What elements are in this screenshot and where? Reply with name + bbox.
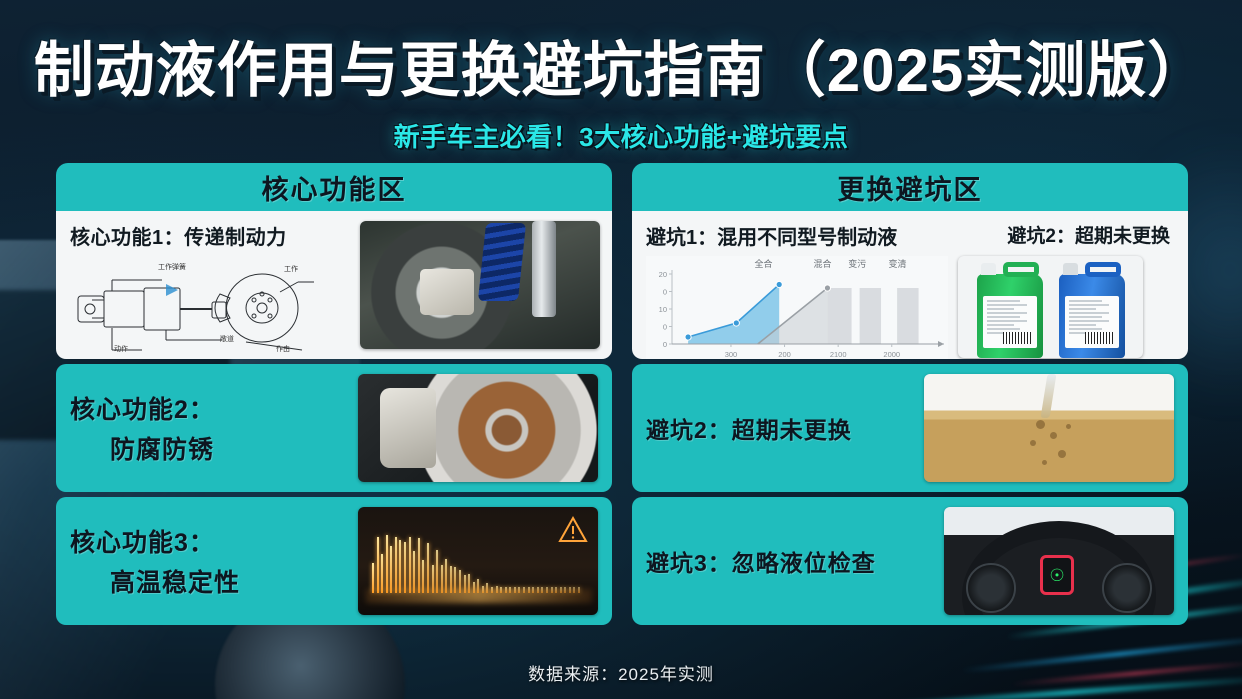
panel-header-left-label: 核心功能区	[262, 168, 407, 207]
barcode-icon	[1003, 332, 1031, 344]
bubble	[1058, 450, 1066, 458]
diagram-label: 工作弹簧	[158, 262, 186, 272]
mixing-fluid-chart: 200100030020021002000 全合混合变污变清	[646, 256, 948, 359]
card-pitfall-3-title: 避坑3：忽略液位检查	[646, 544, 944, 578]
card-pitfall-3[interactable]: 避坑3：忽略液位检查 ☉	[632, 497, 1188, 625]
diagram-label: 敞道	[220, 334, 234, 344]
panel-core-functions: 核心功能区 核心功能1：传递制动力	[56, 163, 612, 633]
card-pitfall-1-title2: 避坑2：超期未更换	[1007, 221, 1170, 248]
card-core-function-1[interactable]: 核心功能1：传递制动力	[56, 211, 612, 359]
svg-text:300: 300	[725, 350, 738, 359]
chart-annotations: 全合混合变污变清	[646, 256, 948, 272]
card-core-function-2-line2: 防腐防锈	[70, 430, 358, 466]
panel-header-right-label: 更换避坑区	[838, 168, 983, 207]
steering-wheel-warning-photo: ☉	[944, 507, 1174, 615]
can-label	[983, 296, 1037, 348]
spark-bars	[372, 529, 584, 593]
card-pitfall-1[interactable]: 避坑1：混用不同型号制动液 避坑2：超期未更换 2001000300200210…	[632, 211, 1188, 359]
chart-annotation: 混合	[813, 257, 831, 270]
can-cap-icon	[981, 263, 996, 275]
card-core-function-3-line1: 核心功能3：	[70, 523, 358, 559]
svg-text:200: 200	[778, 350, 791, 359]
card-core-function-3-line2: 高温稳定性	[70, 563, 358, 599]
svg-text:2000: 2000	[883, 350, 900, 359]
panel-replacement-pitfalls: 更换避坑区 避坑1：混用不同型号制动液 避坑2：超期未更换 2001000300…	[632, 163, 1188, 633]
coil-spring-graphic	[478, 223, 526, 301]
card-core-function-3[interactable]: 核心功能3： 高温稳定性	[56, 497, 612, 625]
svg-text:10: 10	[659, 305, 667, 314]
brake-system-diagram: 工作弹簧 工作 敞道 动作 作由	[70, 258, 315, 356]
card-pitfall-1-title: 避坑1：混用不同型号制动液	[646, 221, 897, 250]
caliper-graphic	[380, 388, 436, 468]
brake-warning-light-icon: ☉	[1040, 555, 1074, 595]
brake-suspension-photo	[360, 221, 600, 349]
diagram-label: 工作	[284, 264, 298, 274]
svg-text:0: 0	[663, 288, 667, 297]
can-label	[1065, 296, 1119, 348]
pouring-stream-graphic	[1041, 374, 1057, 418]
brake-rotor-caliper-photo	[358, 374, 598, 482]
chart-annotation: 变污	[848, 257, 866, 270]
blue-fluid-can	[1059, 274, 1125, 358]
card-pitfall-2[interactable]: 避坑2：超期未更换	[632, 364, 1188, 492]
chart-annotation: 变清	[888, 257, 906, 270]
left-gauge-icon	[966, 563, 1016, 613]
page-title: 制动液作用与更换避坑指南（2025实测版）	[0, 22, 1242, 109]
green-fluid-can	[977, 274, 1043, 358]
panels-container: 核心功能区 核心功能1：传递制动力	[56, 163, 1188, 633]
shock-absorber-graphic	[532, 221, 556, 317]
bubble	[1036, 420, 1045, 429]
data-source-label: 数据来源：2025年实测	[528, 665, 714, 684]
card-pitfall-2-title: 避坑2：超期未更换	[646, 411, 924, 445]
bubble	[1030, 440, 1036, 446]
barcode-icon	[1085, 332, 1113, 344]
footer: 数据来源：2025年实测	[0, 660, 1242, 685]
diagram-label: 动作	[114, 344, 128, 354]
bubble	[1042, 460, 1047, 465]
two-brake-fluid-cans-photo	[958, 256, 1143, 358]
panel-header-left: 核心功能区	[56, 163, 612, 211]
svg-text:0: 0	[663, 323, 667, 332]
warning-triangle-icon	[558, 515, 588, 543]
svg-text:2100: 2100	[830, 350, 847, 359]
right-gauge-icon	[1102, 563, 1152, 613]
card-core-function-2[interactable]: 核心功能2： 防腐防锈	[56, 364, 612, 492]
bubble	[1066, 424, 1071, 429]
card-core-function-1-title: 核心功能1：传递制动力	[70, 221, 360, 250]
can-handle-icon	[1003, 262, 1039, 277]
page-subtitle: 新手车主必看！3大核心功能+避坑要点	[0, 117, 1242, 154]
can-cap-icon	[1063, 263, 1078, 275]
brake-warning-glyph: ☉	[1049, 567, 1064, 584]
diagram-label: 作由	[276, 344, 290, 354]
bubble	[1050, 432, 1057, 439]
dirty-oil-photo	[924, 374, 1174, 482]
infographic-root: 制动液作用与更换避坑指南（2025实测版） 新手车主必看！3大核心功能+避坑要点…	[0, 0, 1242, 699]
chart-annotation: 全合	[754, 257, 772, 270]
header: 制动液作用与更换避坑指南（2025实测版） 新手车主必看！3大核心功能+避坑要点	[0, 0, 1242, 154]
card-core-function-2-line1: 核心功能2：	[70, 390, 358, 426]
panel-header-right: 更换避坑区	[632, 163, 1188, 211]
can-handle-icon	[1085, 262, 1121, 277]
brake-caliper-graphic	[420, 269, 474, 315]
svg-text:0: 0	[663, 340, 667, 349]
hot-sparks-photo	[358, 507, 598, 615]
